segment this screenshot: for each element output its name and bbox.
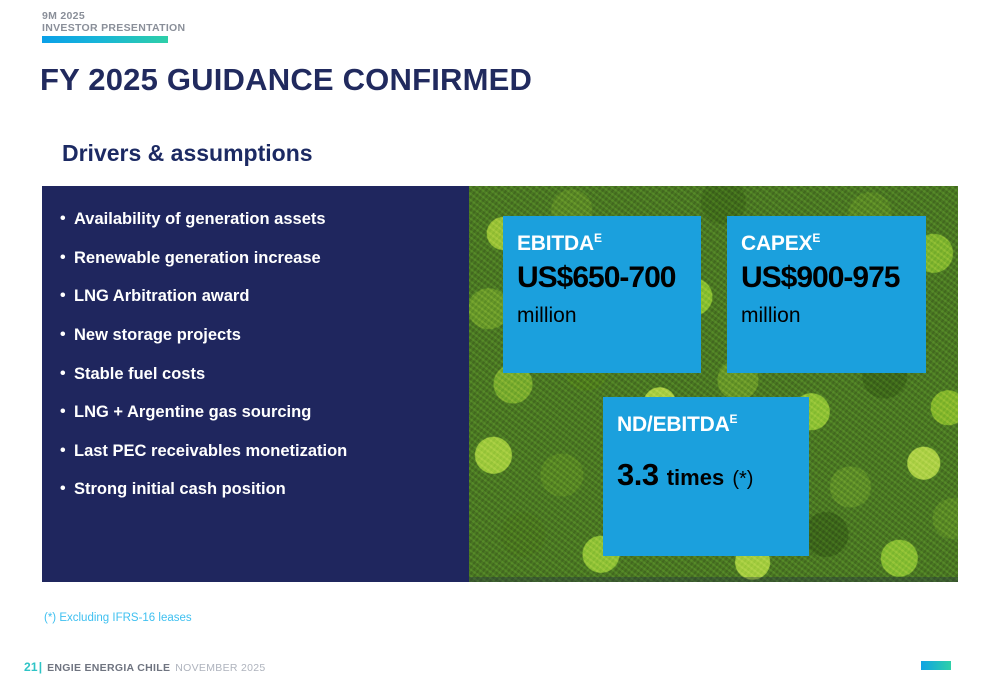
metric-label-text: EBITDA: [517, 232, 594, 255]
metric-value-number: 3.3: [617, 457, 659, 492]
metric-value-nd-ebitda: 3.3 times (*): [617, 459, 795, 491]
page-title: FY 2025 GUIDANCE CONFIRMED: [40, 62, 532, 98]
metric-card-nd-ebitda: ND/EBITDAE 3.3 times (*): [603, 397, 809, 556]
metric-label-text: CAPEX: [741, 232, 812, 255]
list-item-label: Stable fuel costs: [74, 365, 205, 383]
list-item: • LNG Arbitration award: [60, 287, 459, 305]
list-item: • Strong initial cash position: [60, 480, 459, 498]
metric-label-superscript: E: [730, 412, 738, 426]
drivers-list: • Availability of generation assets • Re…: [60, 210, 459, 519]
list-item-label: LNG Arbitration award: [74, 287, 249, 305]
bullet-icon: •: [60, 403, 74, 421]
bullet-icon: •: [60, 480, 74, 498]
footer-page-number: 21: [24, 660, 38, 674]
list-item-label: Strong initial cash position: [74, 480, 286, 498]
list-item: • Last PEC receivables monetization: [60, 442, 459, 460]
list-item-label: Renewable generation increase: [74, 249, 321, 267]
bullet-icon: •: [60, 249, 74, 267]
list-item-label: Last PEC receivables monetization: [74, 442, 347, 460]
section-title: Drivers & assumptions: [62, 140, 313, 167]
metric-label-capex: CAPEXE: [741, 232, 912, 254]
metric-label-nd-ebitda: ND/EBITDAE: [617, 413, 795, 435]
forest-bottom-strip: [469, 577, 958, 582]
metric-value-capex: US$900-975: [741, 263, 912, 294]
slide-body: • Availability of generation assets • Re…: [42, 186, 958, 582]
bullet-icon: •: [60, 210, 74, 228]
header-eyebrow: 9M 2025 INVESTOR PRESENTATION: [42, 10, 185, 35]
metric-value-suffix: times: [667, 465, 724, 490]
list-item-label: Availability of generation assets: [74, 210, 326, 228]
list-item: • Renewable generation increase: [60, 249, 459, 267]
footer-accent-bar: [921, 661, 951, 670]
metric-label-text: ND/EBITDA: [617, 413, 730, 436]
forest-photo-panel: EBITDAE US$650-700 million CAPEXE US$900…: [469, 186, 958, 582]
footnote: (*) Excluding IFRS-16 leases: [44, 612, 192, 624]
metric-value-ebitda: US$650-700: [517, 263, 687, 294]
bullet-icon: •: [60, 365, 74, 383]
slide-footer: 21 | ENGIE ENERGIA CHILE NOVEMBER 2025: [24, 660, 266, 674]
footer-company-name: ENGIE ENERGIA CHILE: [47, 662, 170, 674]
metric-unit-ebitda: million: [517, 305, 687, 326]
metric-label-superscript: E: [812, 231, 820, 245]
list-item-label: LNG + Argentine gas sourcing: [74, 403, 311, 421]
footer-date: NOVEMBER 2025: [175, 662, 265, 674]
eyebrow-period: 9M 2025: [42, 10, 185, 22]
header-accent-bar: [42, 36, 168, 43]
list-item-label: New storage projects: [74, 326, 241, 344]
metric-unit-capex: million: [741, 305, 912, 326]
list-item: • LNG + Argentine gas sourcing: [60, 403, 459, 421]
eyebrow-subtitle: INVESTOR PRESENTATION: [42, 22, 185, 34]
metric-card-ebitda: EBITDAE US$650-700 million: [503, 216, 701, 373]
footer-separator: |: [39, 660, 42, 674]
metric-value-footnote-ref: (*): [732, 468, 753, 490]
list-item: • Stable fuel costs: [60, 365, 459, 383]
bullet-icon: •: [60, 326, 74, 344]
slide: 9M 2025 INVESTOR PRESENTATION FY 2025 GU…: [0, 0, 1000, 685]
metric-label-superscript: E: [594, 231, 602, 245]
bullet-icon: •: [60, 442, 74, 460]
metric-label-ebitda: EBITDAE: [517, 232, 687, 254]
bullet-icon: •: [60, 287, 74, 305]
list-item: • New storage projects: [60, 326, 459, 344]
metric-card-capex: CAPEXE US$900-975 million: [727, 216, 926, 373]
drivers-panel: • Availability of generation assets • Re…: [42, 186, 469, 582]
list-item: • Availability of generation assets: [60, 210, 459, 228]
